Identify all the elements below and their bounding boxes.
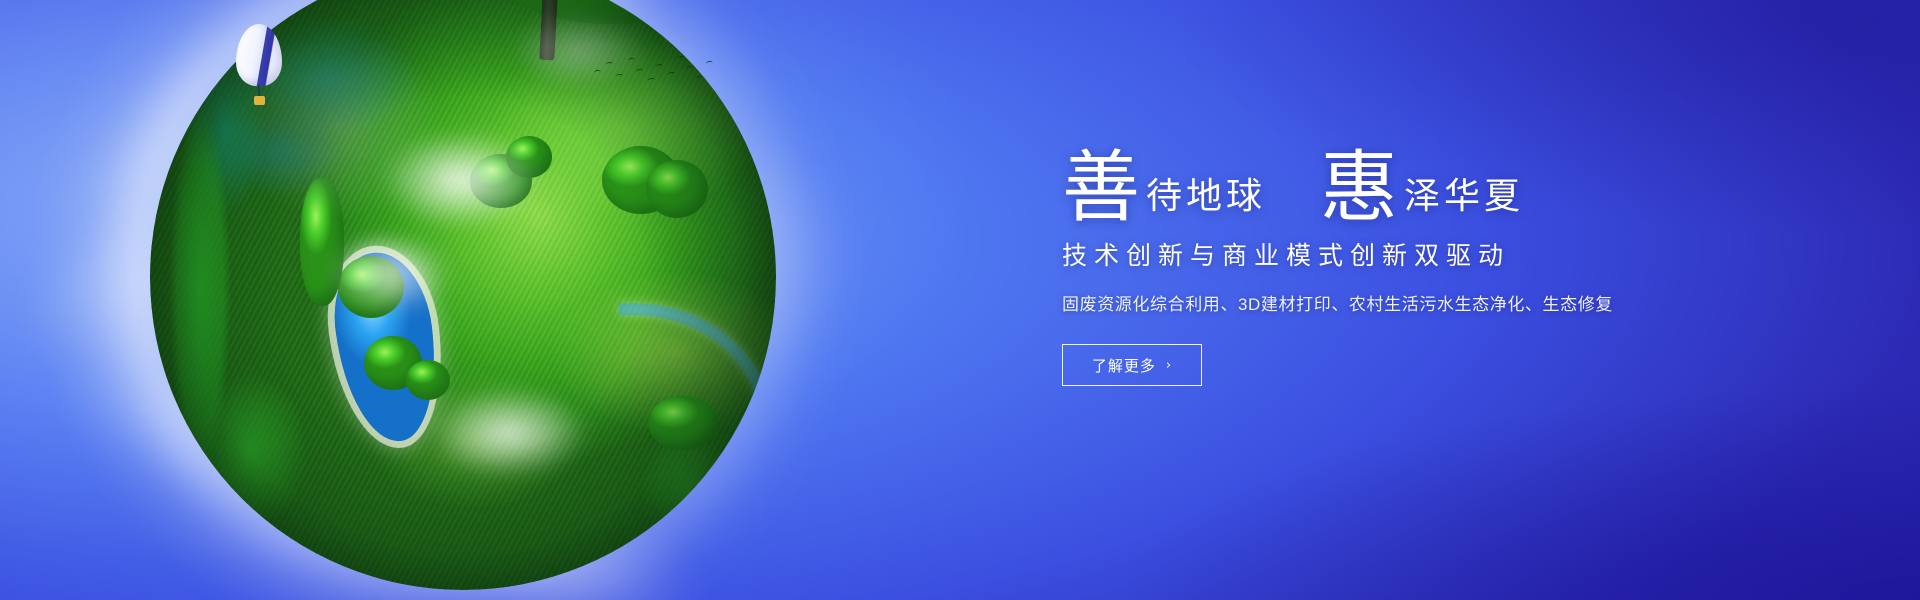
learn-more-label: 了解更多 <box>1092 355 1156 376</box>
learn-more-button[interactable]: 了解更多 › <box>1062 344 1202 386</box>
bird-icon <box>594 70 602 76</box>
hero-banner: 善 待地球 惠 泽华夏 技术创新与商业模式创新双驱动 固废资源化综合利用、3D建… <box>0 0 1920 600</box>
bird-icon <box>696 76 704 82</box>
headline-rest-china: 泽华夏 <box>1398 178 1524 214</box>
headline-char-hui: 惠 <box>1320 151 1398 224</box>
hero-headline: 善 待地球 惠 泽华夏 <box>1062 136 1682 220</box>
bird-icon <box>706 61 714 67</box>
bird-icon <box>616 74 624 80</box>
birds-flock-icon <box>592 52 722 92</box>
chevron-right-icon: › <box>1166 359 1172 372</box>
balloon-basket <box>254 96 265 105</box>
bird-icon <box>678 56 686 62</box>
hot-air-balloon-icon <box>236 24 282 114</box>
bird-icon <box>636 69 644 75</box>
bird-icon <box>656 64 664 70</box>
hero-subtitle: 技术创新与商业模式创新双驱动 <box>1062 236 1682 272</box>
bird-icon <box>648 78 656 84</box>
hero-text-block: 善 待地球 惠 泽华夏 技术创新与商业模式创新双驱动 固废资源化综合利用、3D建… <box>1062 136 1682 386</box>
bird-icon <box>628 58 636 64</box>
headline-rest-earth: 待地球 <box>1140 178 1266 214</box>
bird-icon <box>686 66 694 72</box>
balloon-envelope <box>236 24 282 86</box>
bird-icon <box>668 72 676 78</box>
hero-description: 固废资源化综合利用、3D建材打印、农村生活污水生态净化、生态修复 <box>1062 290 1682 315</box>
bird-icon <box>606 62 614 68</box>
headline-char-shan: 善 <box>1062 151 1140 224</box>
